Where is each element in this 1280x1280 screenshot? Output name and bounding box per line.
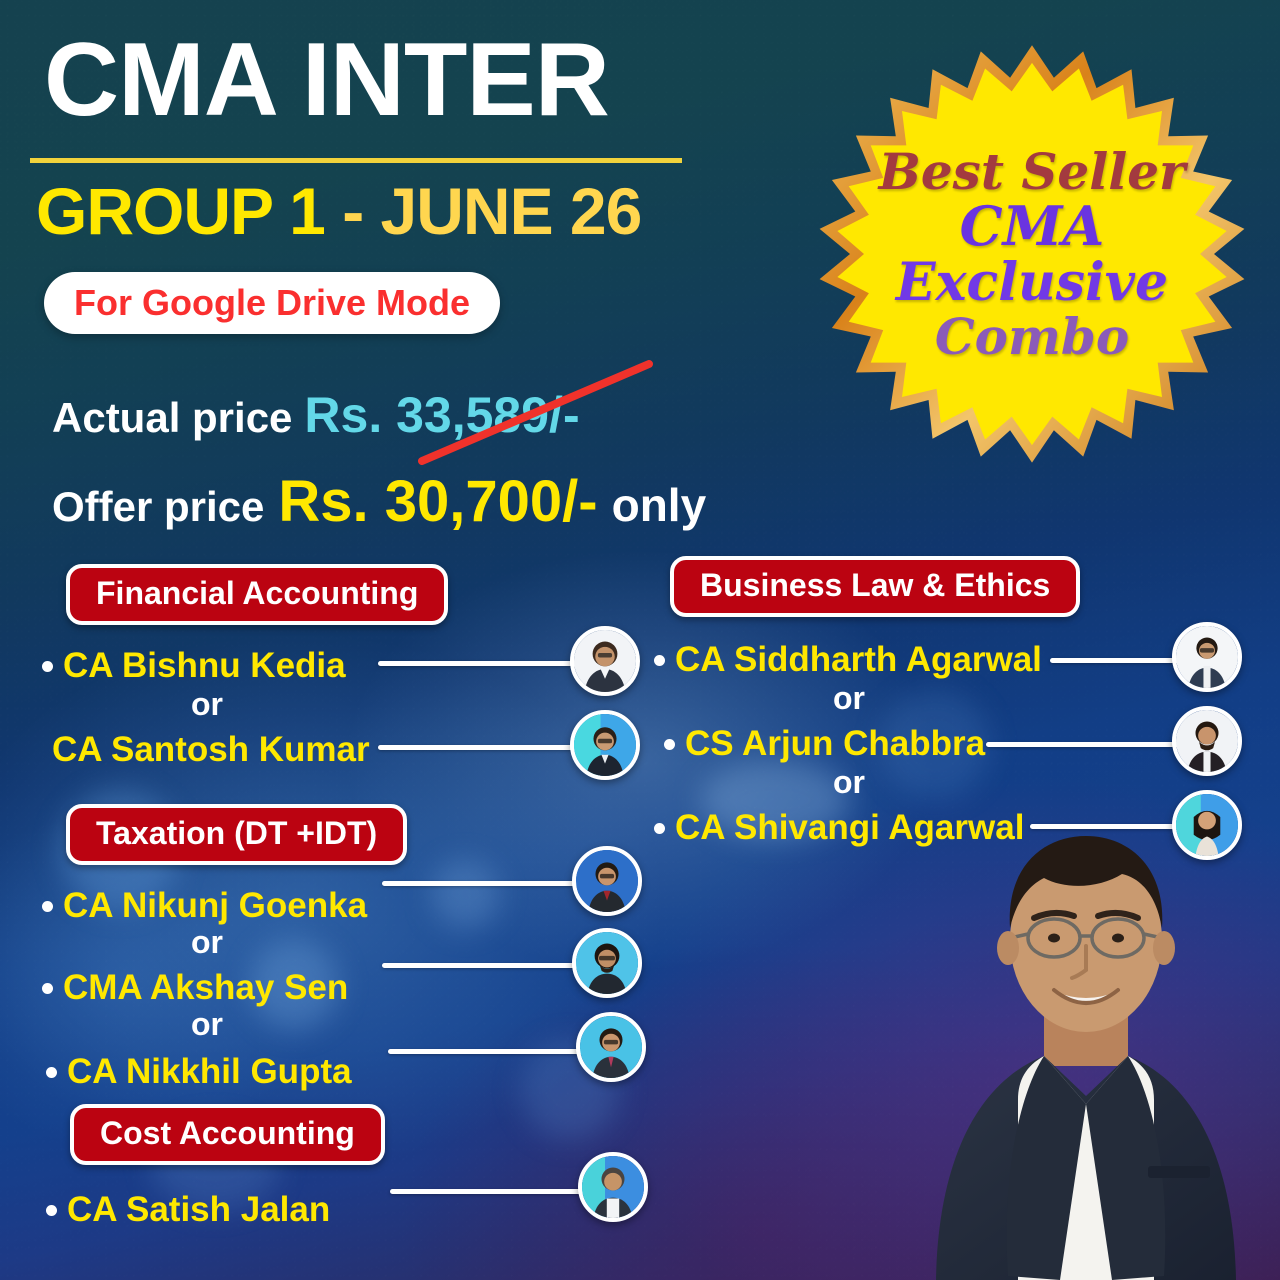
connector-line [986,742,1182,747]
faculty-separator: or [42,684,372,724]
bullet-dot-icon [42,661,53,672]
subject-pill-financial-accounting: Financial Accounting [66,564,448,625]
connector-line [378,661,588,666]
faculty-name: CA Siddharth Agarwal [675,640,1042,680]
bullet-dot-icon [664,739,675,750]
faculty-name: CA Nikkhil Gupta [67,1052,352,1092]
subject-name: Taxation (DT +IDT) [96,815,377,852]
faculty-avatar-icon [576,1012,646,1082]
badge-line-2: CMA [960,199,1105,254]
connector-line [382,963,582,968]
bullet-dot-icon [46,1067,57,1078]
mode-label: For Google Drive Mode [74,282,470,324]
faculty-avatar-icon [572,928,642,998]
connector-line [388,1049,584,1054]
offer-price-suffix: only [612,478,707,532]
badge-line-4: Combo [935,311,1129,362]
bullet-dot-icon [42,901,53,912]
subject-name: Business Law & Ethics [700,567,1050,604]
faculty-avatar-icon [578,1152,648,1222]
faculty-avatar-icon [570,710,640,780]
faculty-separator: or [654,762,1044,802]
faculty-avatar-icon [1172,622,1242,692]
presenter-photo-icon [896,810,1276,1280]
subject-pill-business-law: Business Law & Ethics [670,556,1080,617]
faculty-row: CA Nikkhil Gupta [46,1044,352,1100]
subject-pill-cost-accounting: Cost Accounting [70,1104,385,1165]
title-divider [30,158,682,163]
faculty-separator: or [42,922,372,962]
faculty-name: CA Bishnu Kedia [63,646,346,686]
subject-pill-taxation: Taxation (DT +IDT) [66,804,407,865]
offer-price-label: Offer price [52,483,264,531]
faculty-avatar-icon [572,846,642,916]
connector-line [378,745,588,750]
bullet-dot-icon [654,655,665,666]
offer-price-row: Offer price Rs. 30,700/- only [52,468,706,535]
faculty-row: CA Satish Jalan [46,1182,330,1238]
faculty-row: CA Santosh Kumar [52,722,370,778]
actual-price-row: Actual price Rs. 33,589/- [52,386,580,444]
group-session-subtitle: GROUP 1 - JUNE 26 [36,178,641,244]
badge-line-1: Best Seller [879,146,1186,197]
faculty-name: CA Santosh Kumar [52,730,370,770]
faculty-name: CA Satish Jalan [67,1190,330,1230]
faculty-name: CS Arjun Chabbra [685,724,985,764]
connector-line [390,1189,586,1194]
faculty-avatar-icon [1172,706,1242,776]
connector-line [382,881,582,886]
bullet-dot-icon [654,823,665,834]
mode-badge: For Google Drive Mode [44,272,500,334]
best-seller-badge: Best Seller CMA Exclusive Combo [812,40,1252,468]
faculty-name: CA Nikunj Goenka [63,886,367,926]
bullet-dot-icon [46,1205,57,1216]
bullet-dot-icon [42,983,53,994]
faculty-separator: or [42,1004,372,1044]
offer-price-value: Rs. 30,700/- [278,468,597,535]
actual-price-label: Actual price [52,394,292,442]
bokeh-blob [430,860,500,930]
faculty-name: CMA Akshay Sen [63,968,348,1008]
subject-name: Financial Accounting [96,575,418,612]
badge-line-3: Exclusive [896,256,1168,309]
session-label: - JUNE 26 [342,174,641,248]
connector-line [1050,658,1182,663]
group-label: GROUP 1 [36,174,342,248]
faculty-separator: or [654,678,1044,718]
faculty-avatar-icon [570,626,640,696]
subject-name: Cost Accounting [100,1115,355,1152]
actual-price-value: Rs. 33,589/- [304,386,579,444]
promo-poster: CMA INTER GROUP 1 - JUNE 26 For Google D… [0,0,1280,1280]
page-title: CMA INTER [44,28,609,132]
